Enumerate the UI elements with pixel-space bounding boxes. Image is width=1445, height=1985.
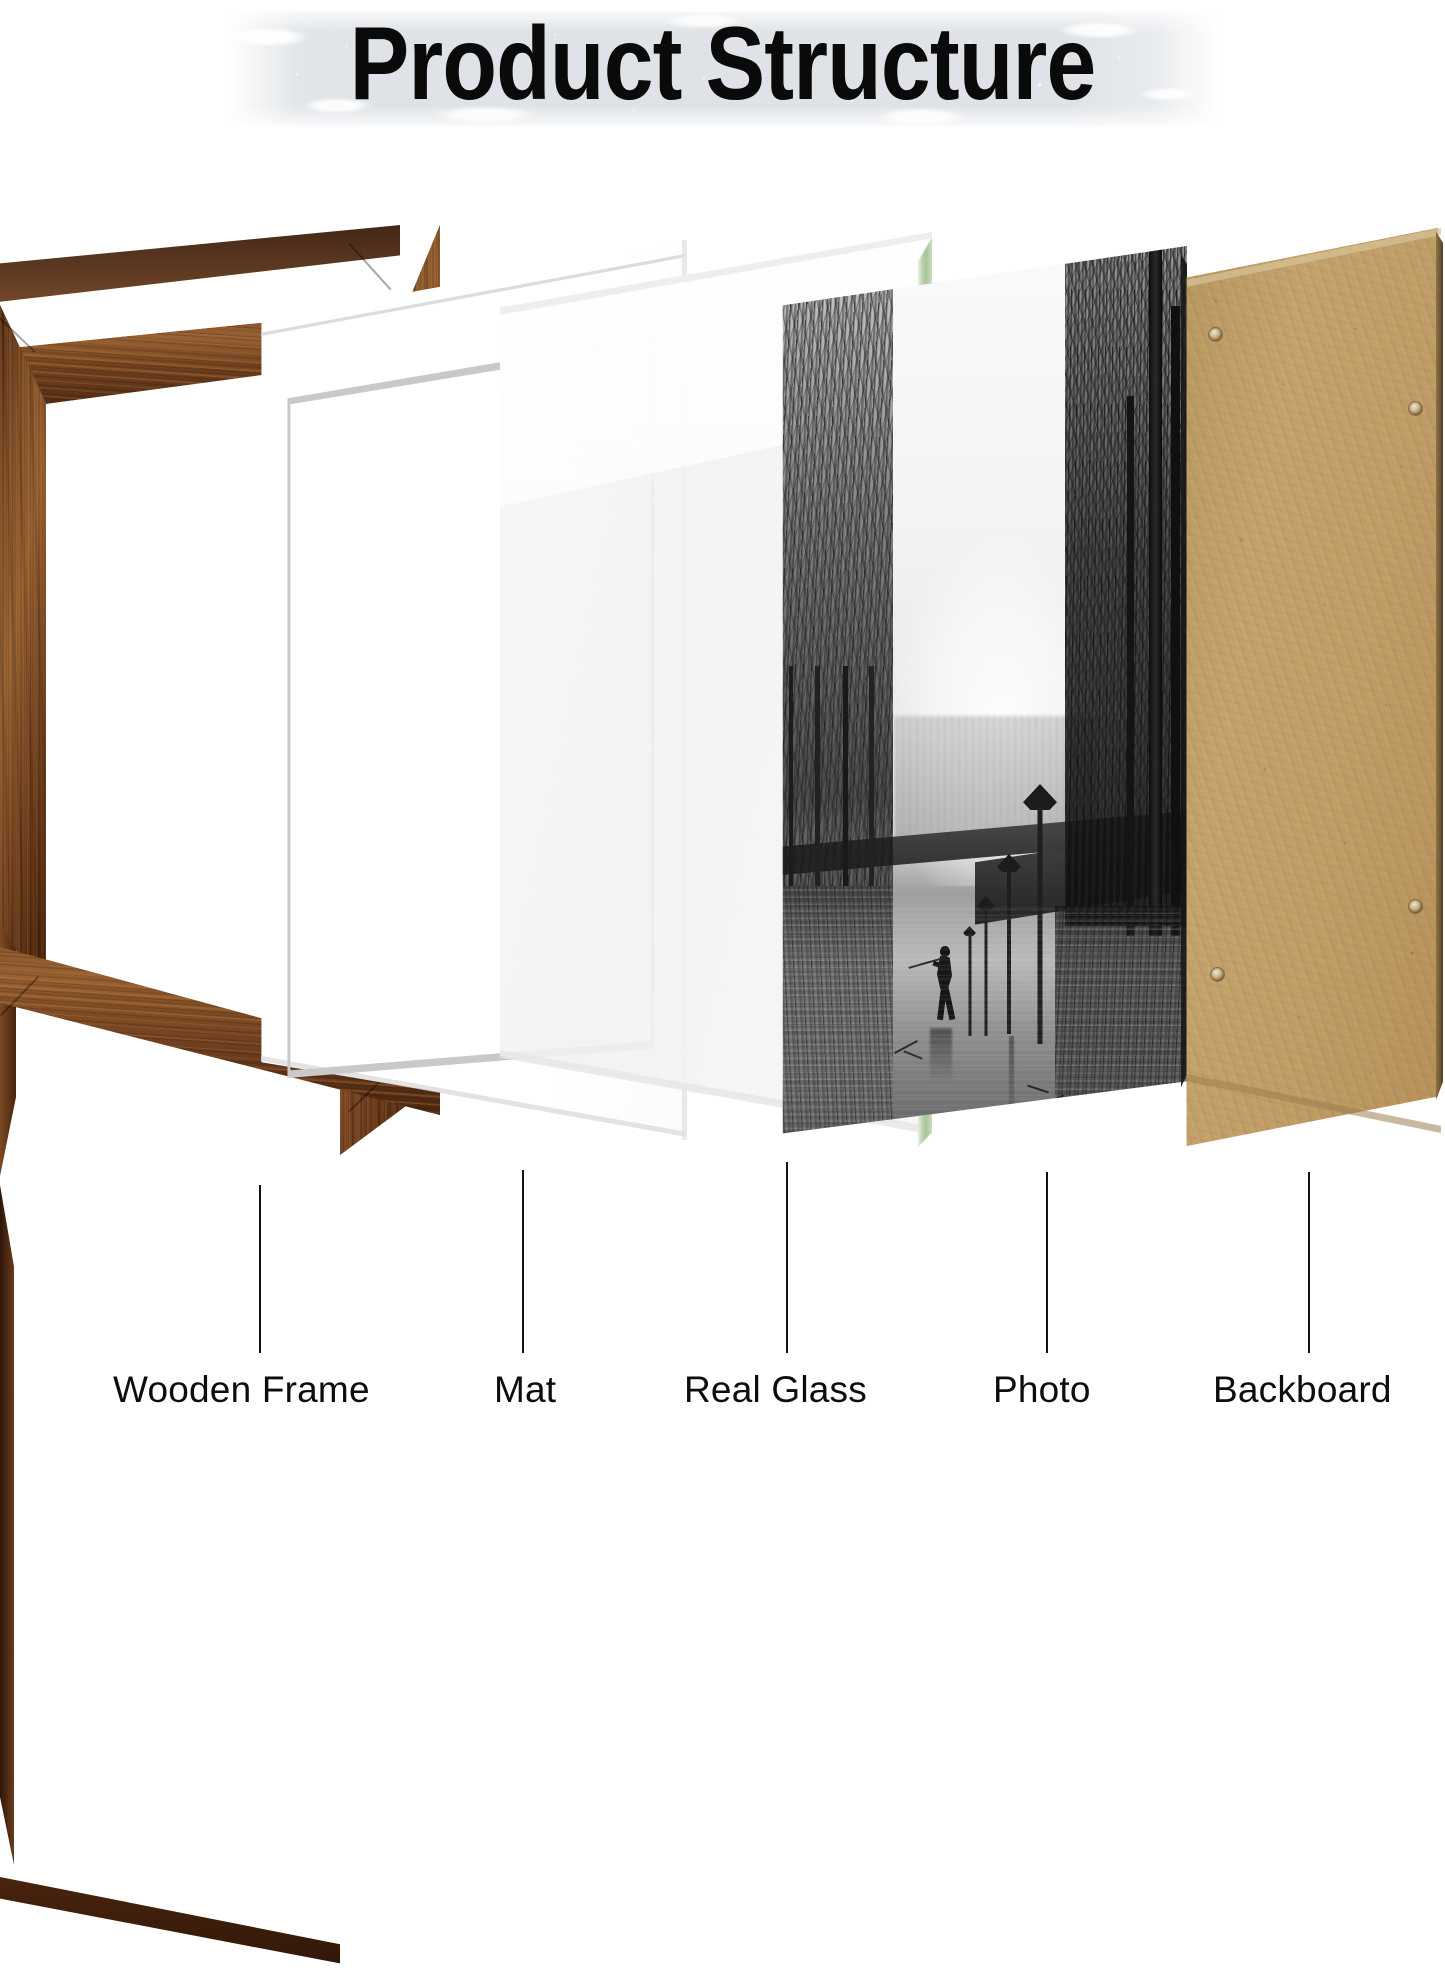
backboard-face [1185,228,1443,1146]
backboard-fastener-3 [1211,968,1224,981]
exploded-view-diagram: Wooden Frame Mat Real Glass Photo Backbo… [0,0,1445,1418]
backboard-fastener-4 [1409,900,1422,913]
frame-left-rabbet [0,1185,14,1865]
photo-reflection-lamp-hood [1025,1114,1053,1132]
frame-bottom-rabbet [0,1865,340,1985]
leader-line-photo [1046,1172,1048,1353]
photo-reflection-lamp-1 [775,246,781,396]
backboard-right-edge [1436,228,1443,1146]
photo-image [775,246,1187,1146]
label-backboard: Backboard [1213,1368,1392,1412]
leader-line-backboard [1308,1172,1310,1353]
backboard-fastener-2 [1409,402,1422,415]
leader-line-real-glass [786,1162,788,1353]
layer-photo [775,246,1187,1146]
photo-right-tree-mass [1065,246,1187,926]
layer-backboard [1185,228,1443,1146]
backboard-fastener-1 [1209,328,1222,341]
label-wooden-frame: Wooden Frame [113,1368,370,1412]
photo-trunk-primary [1149,246,1162,936]
leader-line-mat [522,1170,524,1353]
label-photo: Photo [993,1368,1091,1412]
leader-line-wooden-frame [259,1185,261,1353]
photo-trunk-secondary [1127,396,1134,936]
frame-left-rail [0,305,46,1005]
photo-left-trunks [781,666,891,886]
photo-trunk-tertiary [1171,306,1180,936]
label-mat: Mat [494,1368,556,1412]
photo-water-ripples [775,906,1187,1146]
label-real-glass: Real Glass [684,1368,867,1412]
